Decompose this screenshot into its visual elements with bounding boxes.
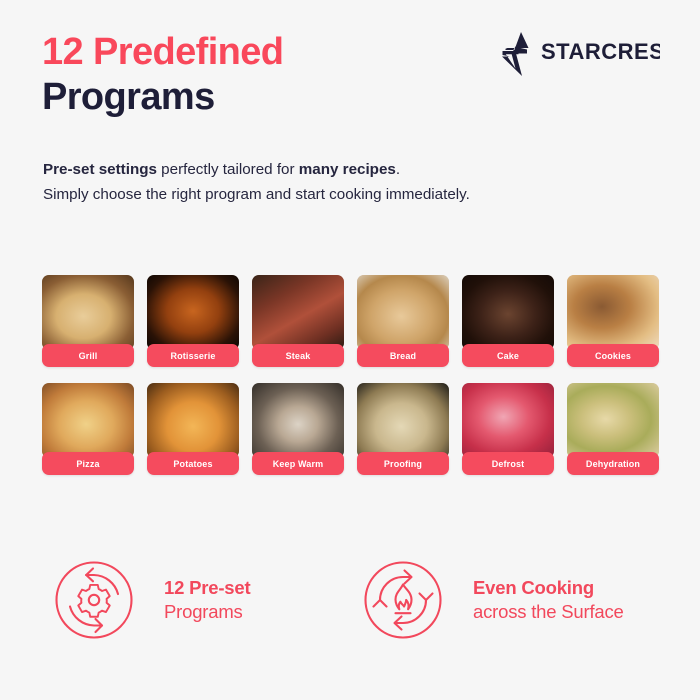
program-label: Pizza [76,459,99,469]
program-label: Grill [79,351,98,361]
program-label-band: Potatoes [147,452,239,475]
program-image [42,383,134,458]
program-label: Potatoes [173,459,212,469]
feature-even-text: Even Cooking across the Surface [473,576,624,623]
program-thumbnail [462,275,554,350]
program-label-band: Dehydration [567,452,659,475]
program-label-band: Bread [357,344,449,367]
program-label: Cookies [595,351,631,361]
subtitle-bold-1: Pre-set settings [43,161,157,178]
program-tile[interactable]: Pizza [42,383,134,475]
program-label: Steak [286,351,311,361]
program-label-band: Rotisserie [147,344,239,367]
feature-preset-line2: Programs [164,600,250,624]
program-thumbnail [252,383,344,458]
program-label-band: Grill [42,344,134,367]
subtitle-bold-2: many recipes [299,161,396,178]
program-thumbnail [147,275,239,350]
feature-preset-text: 12 Pre-set Programs [164,576,250,623]
program-image [357,275,449,350]
feature-preset-programs: 12 Pre-set Programs [42,548,351,652]
program-thumbnail [567,275,659,350]
program-tile[interactable]: Proofing [357,383,449,475]
program-tile[interactable]: Defrost [462,383,554,475]
program-thumbnail [147,383,239,458]
program-image [147,275,239,350]
flame-refresh-icon [351,548,455,652]
subtitle-period: . [396,161,400,178]
infographic-page: 12 Predefined Programs STARCREST Pre-set… [0,0,700,700]
program-label-band: Defrost [462,452,554,475]
brand-name: STARCREST [541,39,660,64]
program-label-band: Pizza [42,452,134,475]
gear-refresh-icon [42,548,146,652]
feature-row: 12 Pre-set Programs Even Coo [42,548,660,652]
program-tile[interactable]: Grill [42,275,134,367]
program-label: Dehydration [586,459,640,469]
program-thumbnail [357,383,449,458]
program-label: Keep Warm [273,459,324,469]
program-image [252,275,344,350]
program-thumbnail [42,383,134,458]
program-thumbnail [462,383,554,458]
program-tile[interactable]: Potatoes [147,383,239,475]
page-subtitle: Pre-set settings perfectly tailored for … [43,158,660,207]
program-image [462,275,554,350]
program-image [567,383,659,458]
program-image [462,383,554,458]
program-tile[interactable]: Cake [462,275,554,367]
subtitle-mid: perfectly tailored for [157,161,299,178]
program-thumbnail [42,275,134,350]
program-tile[interactable]: Keep Warm [252,383,344,475]
program-tile[interactable]: Cookies [567,275,659,367]
program-label-band: Cake [462,344,554,367]
program-image [42,275,134,350]
program-thumbnail [252,275,344,350]
feature-even-line2: across the Surface [473,600,624,624]
program-tile[interactable]: Steak [252,275,344,367]
program-label: Bread [390,351,416,361]
program-label-band: Proofing [357,452,449,475]
brand-wordmark: STARCREST [541,39,660,64]
program-image [252,383,344,458]
feature-preset-line1: 12 Pre-set [164,576,250,600]
page-title-line2: Programs [42,75,660,120]
subtitle-line-1: Pre-set settings perfectly tailored for … [43,158,660,183]
program-image [357,383,449,458]
program-label: Defrost [492,459,525,469]
program-image [567,275,659,350]
program-label-band: Cookies [567,344,659,367]
program-grid: GrillRotisserieSteakBreadCakeCookiesPizz… [42,275,660,475]
program-tile[interactable]: Bread [357,275,449,367]
program-tile[interactable]: Rotisserie [147,275,239,367]
feature-even-line1: Even Cooking [473,576,624,600]
program-thumbnail [567,383,659,458]
feature-even-cooking: Even Cooking across the Surface [351,548,660,652]
program-tile[interactable]: Dehydration [567,383,659,475]
program-label: Cake [497,351,519,361]
star-icon [502,32,529,76]
program-thumbnail [357,275,449,350]
program-label: Proofing [384,459,422,469]
program-label: Rotisserie [170,351,215,361]
program-label-band: Steak [252,344,344,367]
program-label-band: Keep Warm [252,452,344,475]
program-image [147,383,239,458]
brand-logo: STARCREST [488,30,660,78]
subtitle-line-2: Simply choose the right program and star… [43,183,660,208]
